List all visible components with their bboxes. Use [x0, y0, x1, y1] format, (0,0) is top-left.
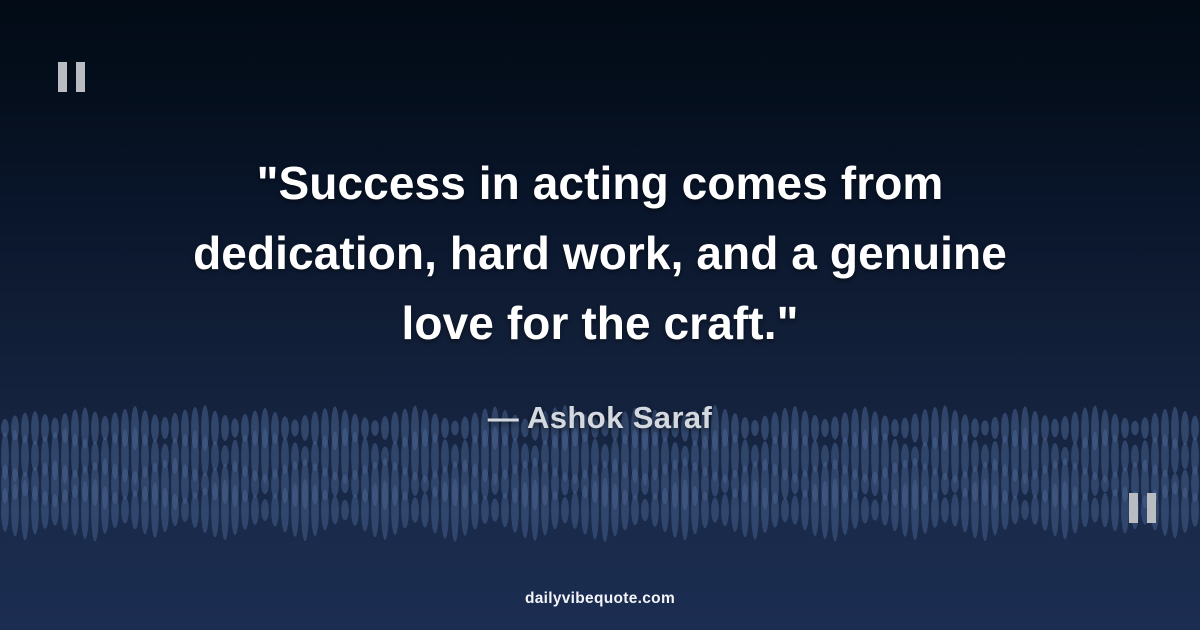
- quote-line: dedication, hard work, and a genuine: [70, 218, 1130, 288]
- closing-quote-mark-icon: [1129, 493, 1156, 523]
- site-watermark: dailyvibequote.com: [0, 590, 1200, 608]
- quote-line: love for the craft.": [70, 288, 1130, 358]
- quote-line: "Success in acting comes from: [70, 148, 1130, 218]
- quote-attribution: — Ashok Saraf: [0, 400, 1200, 436]
- quote-bar-right: [1147, 493, 1156, 523]
- quote-text: "Success in acting comes from dedication…: [70, 148, 1130, 358]
- card-content: "Success in acting comes from dedication…: [0, 0, 1200, 630]
- quote-bar-left: [1129, 493, 1138, 523]
- quote-card: "Success in acting comes from dedication…: [0, 0, 1200, 630]
